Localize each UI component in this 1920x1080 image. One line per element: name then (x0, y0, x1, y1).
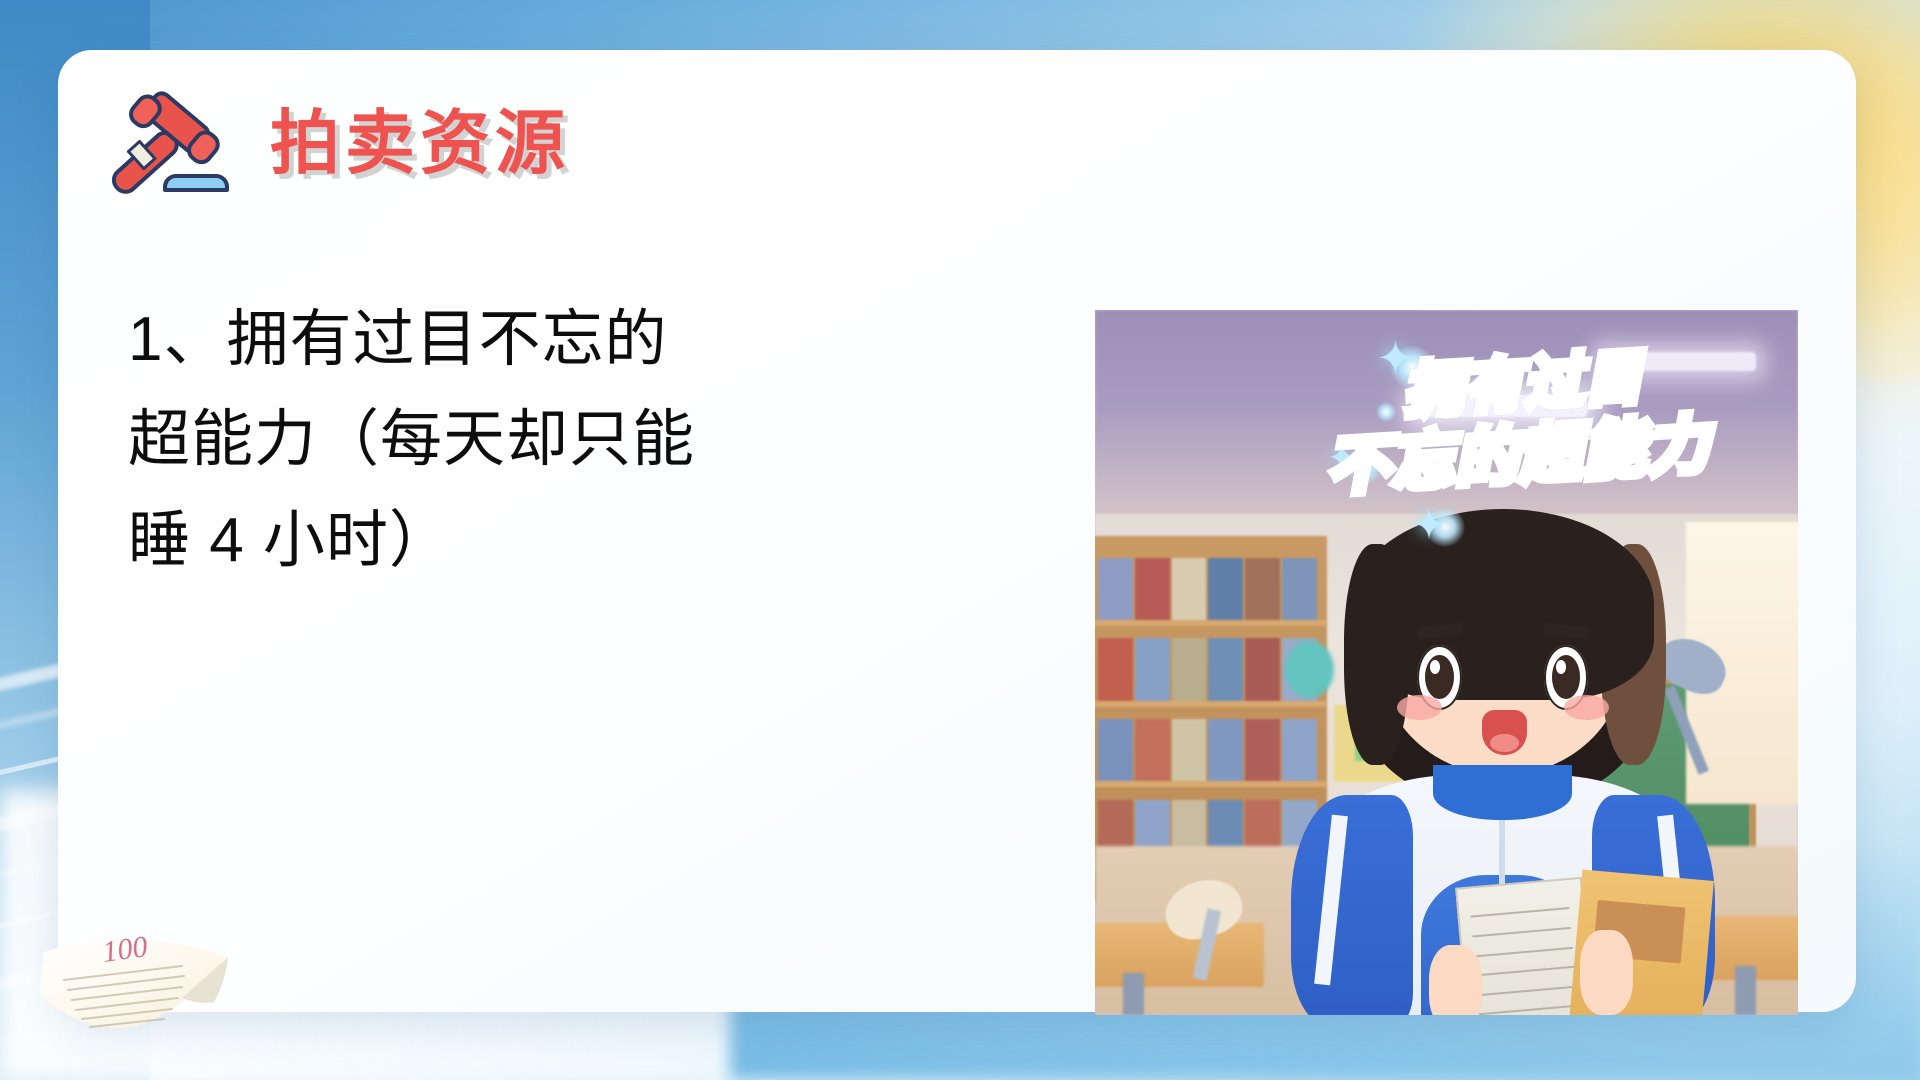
photo-uniform-collar (1433, 765, 1572, 820)
svg-text:100: 100 (100, 930, 149, 969)
photo-student-figure (1299, 514, 1707, 1015)
photo-hand-left (1429, 945, 1482, 1015)
sparkle-star-icon: ✦ (1411, 500, 1446, 549)
illustration-image: ✦ ✦ ✦ 拥有过目 不忘的超能力 (1095, 310, 1798, 1015)
gavel-icon (104, 88, 232, 198)
photo-desk-leg-left (1123, 973, 1144, 1015)
overlay-headline-line-1: 拥有过目 (1403, 349, 1646, 422)
photo-blush-right (1564, 695, 1609, 720)
page-title: 拍卖资源 (270, 108, 570, 178)
body-line-3: 睡 4 小时） (128, 491, 888, 591)
photo-sleeve-left (1291, 795, 1413, 1015)
photo-mouth (1482, 710, 1527, 755)
exam-paper-icon: 100 (32, 924, 282, 1074)
photo-desk-leg-right (1735, 966, 1756, 1015)
content-card: 拍卖资源 1、拥有过目不忘的 超能力（每天却只能 睡 4 小时） (58, 50, 1856, 1012)
card-header: 拍卖资源 (104, 88, 570, 198)
photo-blush-left (1397, 695, 1442, 720)
body-line-2: 超能力（每天却只能 (128, 390, 888, 490)
sparkle-icon (1376, 402, 1396, 422)
photo-hair-front (1352, 509, 1654, 699)
body-line-1: 1、拥有过目不忘的 (128, 290, 888, 390)
photo-hand-right (1580, 930, 1633, 1015)
body-text: 1、拥有过目不忘的 超能力（每天却只能 睡 4 小时） (128, 290, 888, 591)
